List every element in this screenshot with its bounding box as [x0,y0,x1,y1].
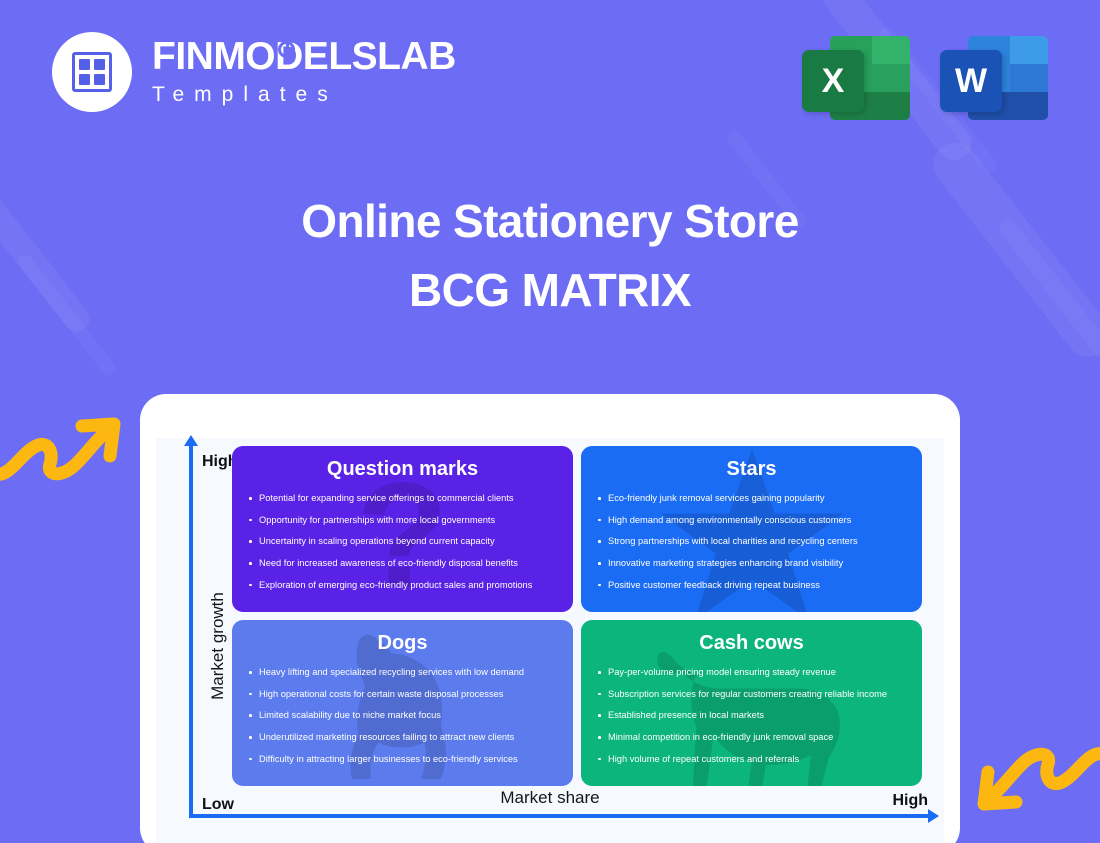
quadrant-question-marks[interactable]: ? Question marks Potential for expanding… [232,446,573,612]
list-item: Strong partnerships with local charities… [595,536,908,547]
list-item: High volume of repeat customers and refe… [595,754,908,765]
list-item: Innovative marketing strategies enhancin… [595,558,908,569]
brand-header: FINMODELSLAB Templates [52,32,456,112]
poster-canvas: FINMODELSLAB Templates X W Online Statio… [0,0,1100,843]
quadrant-title: Stars [595,458,908,481]
squiggly-arrow-up-right-icon [0,402,130,490]
list-item: Need for increased awareness of eco-frie… [246,558,559,569]
y-axis-arrow [189,444,193,818]
brand-tagline: Templates [152,83,456,107]
matrix-card: High Low Market growth Market share High… [140,394,960,843]
squiggly-arrow-down-left-icon [968,738,1100,830]
list-item: Exploration of emerging eco-friendly pro… [246,580,559,591]
matrix-panel: High Low Market growth Market share High… [156,438,944,843]
list-item: Potential for expanding service offering… [246,493,559,504]
list-item: Positive customer feedback driving repea… [595,580,908,591]
list-item: Established presence in local markets [595,710,908,721]
list-item: High operational costs for certain waste… [246,689,559,700]
list-item: Heavy lifting and specialized recycling … [246,667,559,678]
title-line-2: BCG MATRIX [0,265,1100,316]
word-badge-letter: W [940,50,1002,112]
brand-name: FINMODELSLAB [152,37,456,78]
x-axis-label: Market share [156,788,944,808]
list-item: Uncertainty in scaling operations beyond… [246,536,559,547]
quadrant-title: Question marks [246,458,559,481]
list-item: Underutilized marketing resources failin… [246,732,559,743]
quadrant-bullet-list: Eco-friendly junk removal services gaini… [595,493,908,590]
quadrant-bullet-list: Heavy lifting and specialized recycling … [246,667,559,764]
title-line-1: Online Stationery Store [0,196,1100,247]
y-axis-label: Market growth [208,592,228,700]
list-item: Pay-per-volume pricing model ensuring st… [595,667,908,678]
quadrant-title: Dogs [246,632,559,655]
brand-text-block: FINMODELSLAB Templates [152,37,456,107]
list-item: Subscription services for regular custom… [595,689,908,700]
list-item: Opportunity for partnerships with more l… [246,515,559,526]
word-icon[interactable]: W [940,28,1048,120]
excel-badge-letter: X [802,50,864,112]
x-axis-arrow [189,814,929,818]
quadrant-stars[interactable]: Stars Eco-friendly junk removal services… [581,446,922,612]
list-item: Minimal competition in eco-friendly junk… [595,732,908,743]
list-item: Eco-friendly junk removal services gaini… [595,493,908,504]
quadrant-cash-cows[interactable]: Cash cows Pay-per-volume pricing model e… [581,620,922,786]
list-item: High demand among environmentally consci… [595,515,908,526]
logo-circle [52,32,132,112]
grid-logo-icon [72,52,112,92]
quadrant-bullet-list: Pay-per-volume pricing model ensuring st… [595,667,908,764]
list-item: Difficulty in attracting larger business… [246,754,559,765]
bcg-matrix-grid: ? Question marks Potential for expanding… [232,446,922,786]
page-title: Online Stationery Store BCG MATRIX [0,196,1100,315]
excel-icon[interactable]: X [802,28,910,120]
quadrant-bullet-list: Potential for expanding service offering… [246,493,559,590]
list-item: Limited scalability due to niche market … [246,710,559,721]
quadrant-title: Cash cows [595,632,908,655]
file-format-icons: X W [802,28,1048,120]
x-axis-high-label: High [892,792,928,810]
quadrant-dogs[interactable]: Dogs Heavy lifting and specialized recyc… [232,620,573,786]
